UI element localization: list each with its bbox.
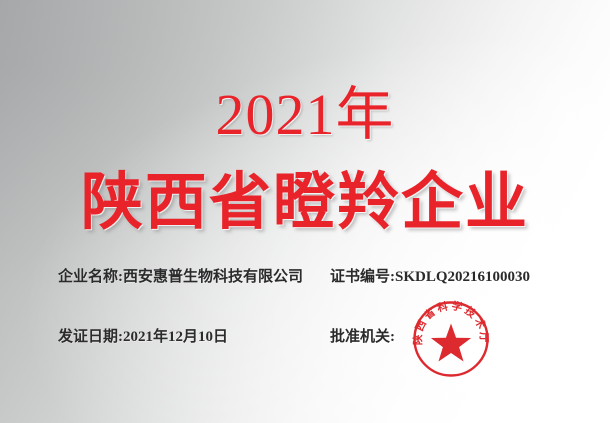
- company-name-field: 企业名称: 西安惠普生物科技有限公司: [58, 266, 303, 288]
- certificate-number-value: SKDLQ20216100030: [395, 266, 530, 288]
- plaque-content: 2021年 陕西省瞪羚企业 企业名称: 西安惠普生物科技有限公司 证书编号: S…: [0, 0, 610, 423]
- issue-date-label: 发证日期:: [58, 326, 123, 348]
- certificate-plaque: 2021年 陕西省瞪羚企业 企业名称: 西安惠普生物科技有限公司 证书编号: S…: [0, 0, 610, 423]
- issue-date-field: 发证日期: 2021年12月10日: [58, 326, 228, 348]
- detail-row-company: 企业名称: 西安惠普生物科技有限公司 证书编号: SKDLQ2021610003…: [58, 266, 570, 290]
- approval-authority-label: 批准机关:: [330, 326, 395, 348]
- year-title: 2021年: [0, 84, 610, 146]
- issue-date-value: 2021年12月10日: [123, 326, 228, 348]
- certificate-number-field: 证书编号: SKDLQ20216100030: [330, 266, 530, 288]
- approval-authority-field: 批准机关:: [330, 326, 395, 348]
- award-title: 陕西省瞪羚企业: [0, 168, 610, 238]
- certificate-number-label: 证书编号:: [330, 266, 395, 288]
- official-seal: 陕西省科学技术厅: [412, 300, 490, 378]
- company-name-value: 西安惠普生物科技有限公司: [123, 266, 303, 288]
- detail-row-issue-date: 发证日期: 2021年12月10日 批准机关:: [58, 326, 570, 350]
- company-name-label: 企业名称:: [58, 266, 123, 288]
- seal-star-icon: [431, 324, 471, 362]
